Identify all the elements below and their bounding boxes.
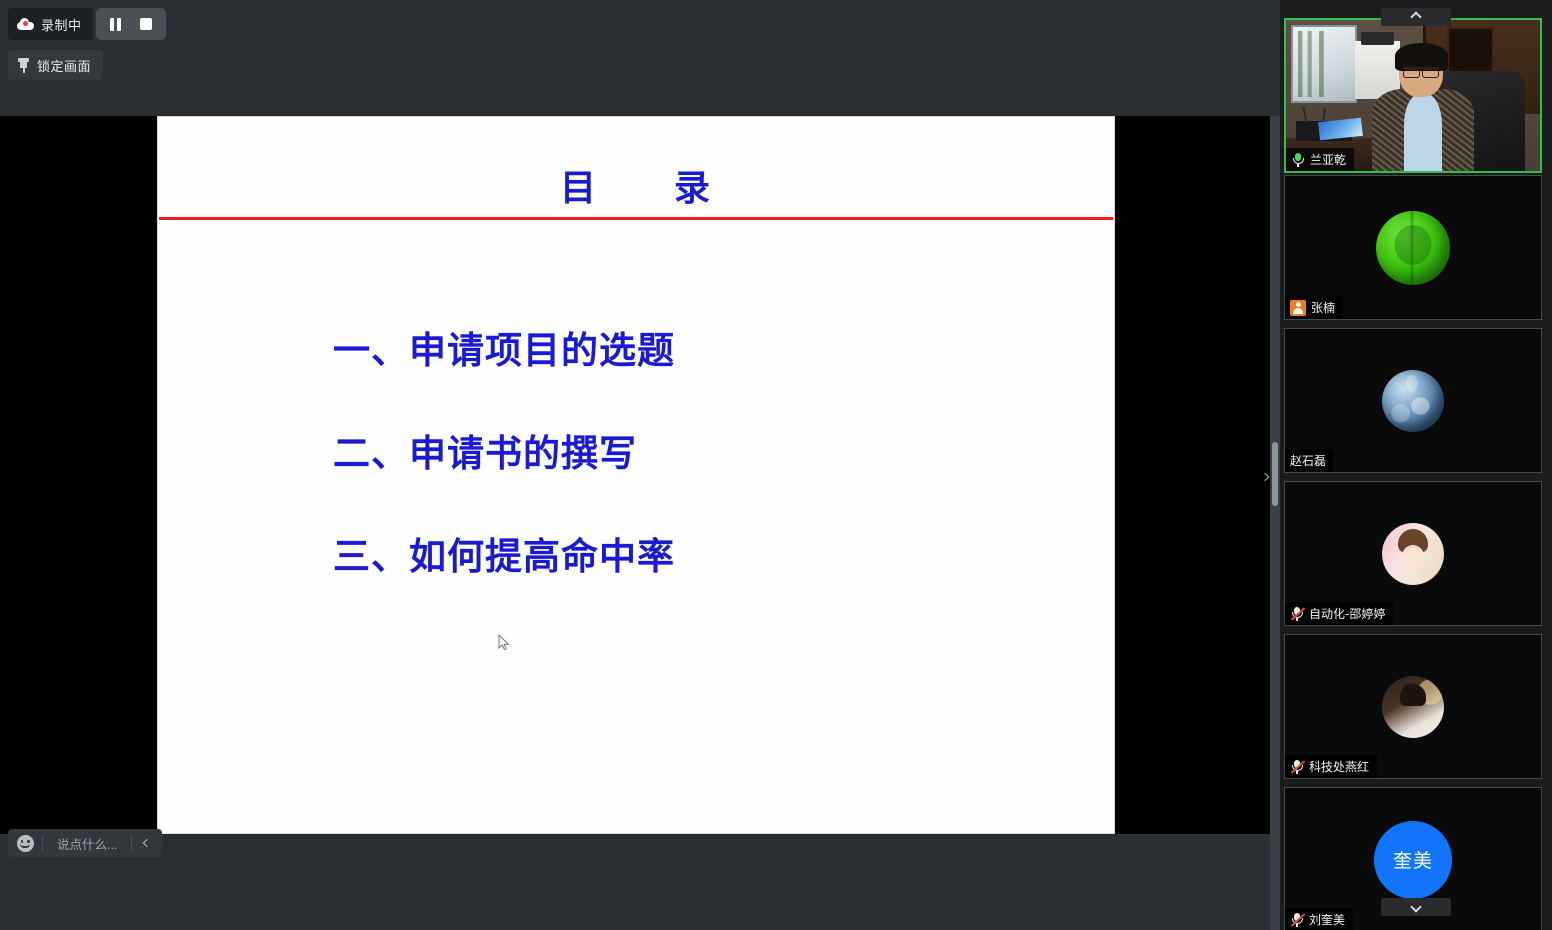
slide-title: 目 录 — [158, 159, 1114, 211]
scrollbar-thumb[interactable] — [1272, 442, 1278, 506]
pause-icon — [110, 18, 121, 31]
participant-name-badge: 刘奎美 — [1285, 908, 1353, 930]
top-toolbar: 录制中 锁定画面 — [0, 0, 1280, 116]
initials-avatar: 奎美 — [1374, 821, 1452, 899]
stop-icon — [140, 18, 152, 30]
slide-divider — [159, 217, 1113, 220]
chevron-up-icon — [1410, 11, 1421, 22]
mic-off-icon — [1290, 606, 1304, 621]
smiley-icon — [17, 835, 34, 852]
pin-icon — [17, 58, 30, 73]
participant-name: 自动化-邵婷婷 — [1309, 605, 1385, 622]
anime-girl-avatar — [1382, 523, 1444, 585]
participants-scrollbar[interactable] — [1270, 116, 1280, 930]
recording-buttons — [96, 8, 166, 40]
chevron-down-icon — [1410, 901, 1421, 912]
participant-name: 科技处燕红 — [1309, 758, 1369, 775]
presentation-slide: 目 录 一、申请项目的选题 二、申请书的撰写 三、如何提高命中率 — [157, 116, 1115, 834]
participant-tile[interactable]: 张楠 — [1284, 175, 1542, 320]
avatar-initials: 奎美 — [1393, 846, 1433, 873]
participant-name: 兰亚乾 — [1310, 151, 1346, 168]
portrait-photo-avatar — [1382, 676, 1444, 738]
mouse-cursor-icon — [498, 634, 510, 651]
cloud-record-icon — [17, 18, 34, 30]
participant-name-badge: 自动化-邵婷婷 — [1285, 602, 1393, 625]
lock-screen-button[interactable]: 锁定画面 — [8, 50, 103, 80]
participants-rail: 兰亚乾 张楠 赵石磊 — [1280, 0, 1552, 930]
pause-recording-button[interactable] — [102, 11, 130, 37]
participant-name-badge: 科技处燕红 — [1285, 755, 1377, 778]
participant-tile[interactable]: 自动化-邵婷婷 — [1284, 481, 1542, 626]
bottom-bar — [0, 834, 1270, 930]
recording-status: 录制中 — [8, 8, 93, 40]
chat-input[interactable]: 说点什么... — [43, 829, 131, 857]
mic-on-icon — [1291, 152, 1305, 167]
agenda-item: 一、申请项目的选题 — [333, 332, 675, 369]
mic-off-icon — [1290, 912, 1304, 927]
participant-name-badge: 张楠 — [1285, 296, 1343, 319]
chat-bar: 说点什么... — [8, 829, 162, 857]
participants-scroll-down-button[interactable] — [1381, 898, 1451, 916]
slide-agenda-list: 一、申请项目的选题 二、申请书的撰写 三、如何提高命中率 — [333, 332, 675, 575]
chat-collapse-button[interactable] — [132, 829, 162, 857]
agenda-item: 三、如何提高命中率 — [333, 538, 675, 575]
chevron-right-icon — [1261, 473, 1269, 481]
agenda-item: 二、申请书的撰写 — [333, 435, 675, 472]
recording-controls: 录制中 — [8, 8, 166, 40]
stop-recording-button[interactable] — [132, 11, 160, 37]
host-icon — [1290, 300, 1306, 316]
emoji-button[interactable] — [8, 829, 42, 857]
participant-name-badge: 兰亚乾 — [1286, 148, 1354, 171]
panel-collapse-handle[interactable] — [1258, 464, 1272, 490]
recording-label: 录制中 — [41, 15, 82, 34]
meeting-window: 录制中 锁定画面 目 录 一、申请项目的选题 二 — [0, 0, 1552, 930]
participant-tile[interactable]: 兰亚乾 — [1284, 18, 1542, 173]
shared-screen-stage: 目 录 一、申请项目的选题 二、申请书的撰写 三、如何提高命中率 — [0, 116, 1270, 834]
participant-name-badge: 赵石磊 — [1285, 449, 1334, 472]
lock-screen-label: 锁定画面 — [37, 56, 91, 75]
mic-off-icon — [1290, 759, 1304, 774]
green-sphere-avatar — [1376, 211, 1450, 285]
chevron-left-icon — [143, 839, 151, 847]
participant-tile[interactable]: 科技处燕红 — [1284, 634, 1542, 779]
participant-tile[interactable]: 赵石磊 — [1284, 328, 1542, 473]
participant-name: 张楠 — [1311, 299, 1335, 316]
participants-scroll-up-button[interactable] — [1381, 8, 1451, 26]
participant-name: 赵石磊 — [1290, 452, 1326, 469]
participant-name: 刘奎美 — [1309, 911, 1345, 928]
earth-photo-avatar — [1382, 370, 1444, 432]
